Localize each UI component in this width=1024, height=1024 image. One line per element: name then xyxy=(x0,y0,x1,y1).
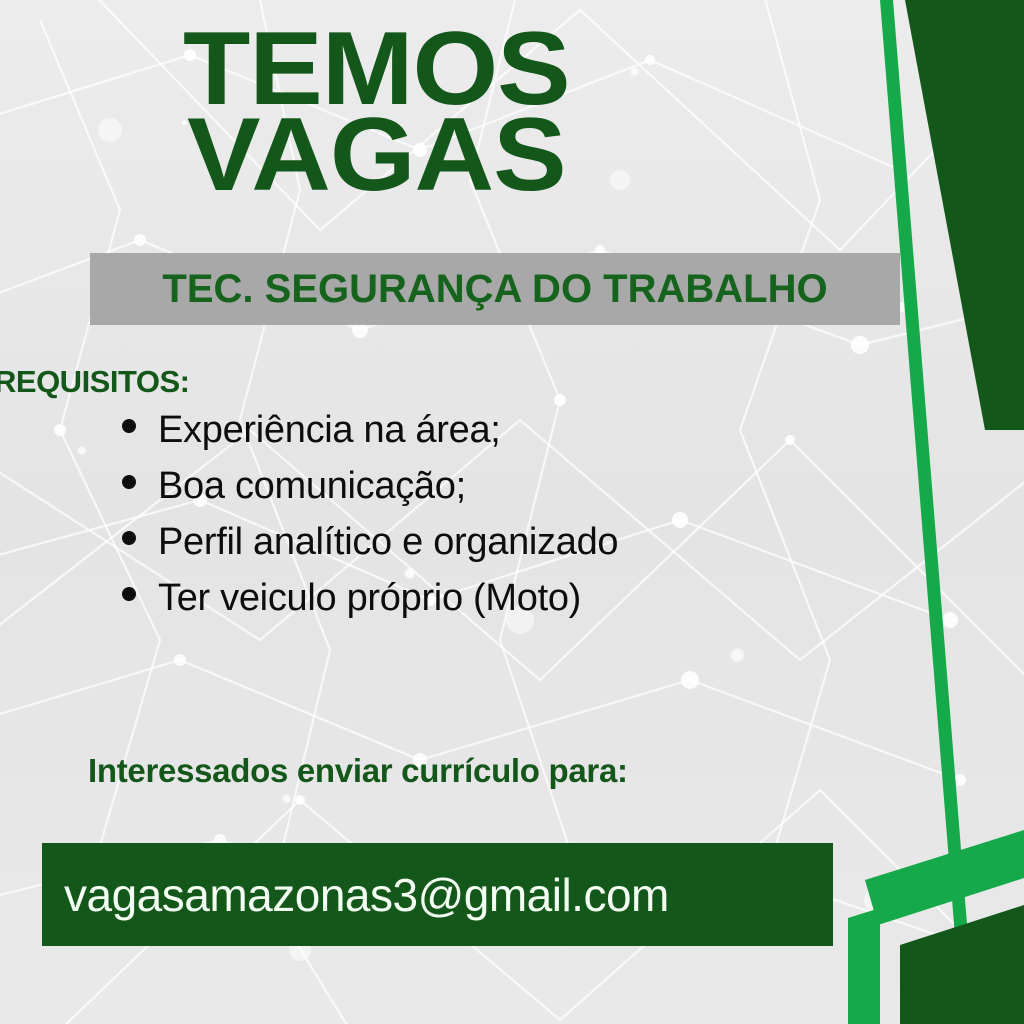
top-right-green-wedge xyxy=(905,0,1024,430)
list-item: Ter veiculo próprio (Moto) xyxy=(122,570,942,626)
call-to-action-text: Interessados enviar currículo para: xyxy=(88,752,628,790)
bottom-right-accent-bar-top xyxy=(865,830,1024,925)
role-banner-label: TEC. SEGURANÇA DO TRABALHO xyxy=(162,267,827,312)
email-bar[interactable]: vagasamazonas3@gmail.com xyxy=(42,843,833,946)
requirements-list: Experiência na área; Boa comunicação; Pe… xyxy=(122,402,942,626)
bullet-icon xyxy=(122,419,136,433)
requirement-text: Perfil analítico e organizado xyxy=(158,514,618,570)
page-title-line-2: VAGAS xyxy=(0,108,753,204)
requirement-text: Experiência na área; xyxy=(158,402,501,458)
email-address[interactable]: vagasamazonas3@gmail.com xyxy=(42,868,669,922)
list-item: Experiência na área; xyxy=(122,402,942,458)
bottom-right-green-block xyxy=(900,905,1024,1024)
bullet-icon xyxy=(122,475,136,489)
requirements-heading: REQUISITOS: xyxy=(0,364,189,400)
job-posting-poster: TEMOS VAGAS TEC. SEGURANÇA DO TRABALHO R… xyxy=(0,0,1024,1024)
requirement-text: Boa comunicação; xyxy=(158,458,466,514)
list-item: Boa comunicação; xyxy=(122,458,942,514)
bullet-icon xyxy=(122,531,136,545)
requirement-text: Ter veiculo próprio (Moto) xyxy=(158,570,581,626)
bottom-right-accent-bar-left xyxy=(848,908,880,1024)
bullet-icon xyxy=(122,587,136,601)
list-item: Perfil analítico e organizado xyxy=(122,514,942,570)
role-banner: TEC. SEGURANÇA DO TRABALHO xyxy=(90,253,900,325)
